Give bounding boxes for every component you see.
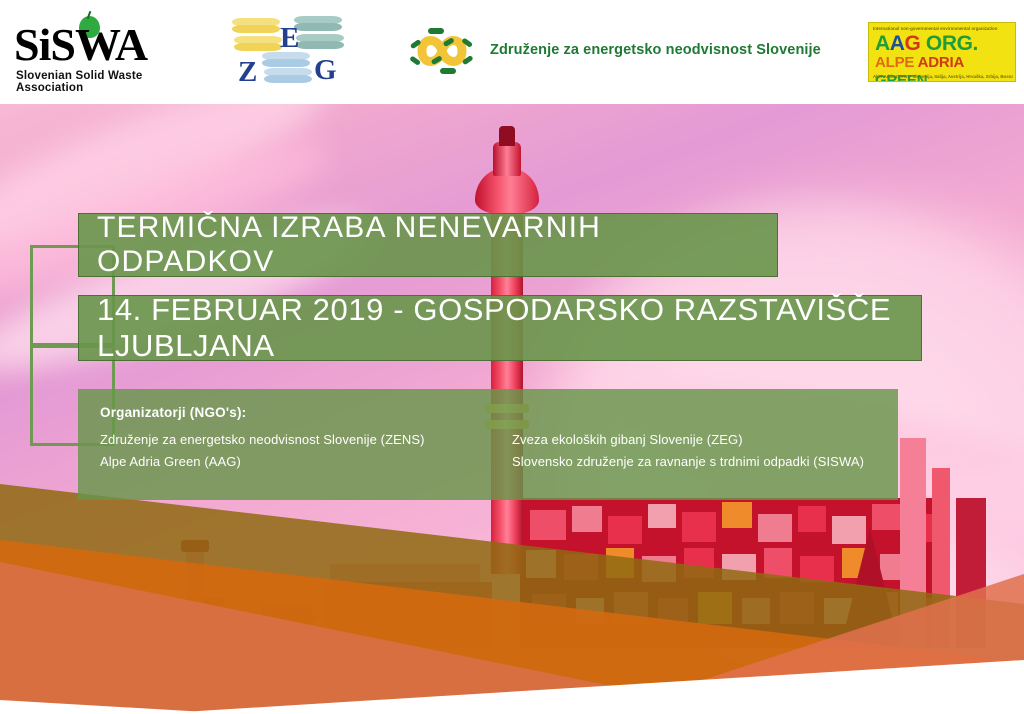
infinity-icon bbox=[398, 22, 486, 80]
logo-zeg: E Z G bbox=[232, 16, 344, 88]
waves-icon bbox=[234, 36, 282, 51]
organizer-item: Slovensko združenje za ravnanje s trdnim… bbox=[512, 451, 864, 473]
organizers-right-column: Zveza ekoloških gibanj Slovenije (ZEG) S… bbox=[512, 429, 864, 473]
aag-alpe: ALPE bbox=[875, 54, 918, 71]
waves-icon bbox=[294, 16, 342, 31]
organizers-box: Organizatorji (NGO's): Združenje za ener… bbox=[78, 389, 898, 500]
aag-g: G bbox=[905, 32, 921, 55]
zens-name: Združenje za energetsko neodvisnost Slov… bbox=[490, 42, 821, 58]
aag-org: ORG. bbox=[920, 32, 978, 55]
organizer-item: Alpe Adria Green (AAG) bbox=[100, 451, 425, 473]
zeg-letter-e: E bbox=[280, 24, 299, 53]
waves-icon bbox=[264, 68, 312, 83]
logo-zens: Združenje za energetsko neodvisnost Slov… bbox=[398, 22, 838, 84]
aag-line-2: ALPE ADRIA GREEN bbox=[875, 54, 1015, 72]
aag-top-microtext: International non-governmental environme… bbox=[873, 25, 1013, 32]
aag-line-1: AAG ORG. bbox=[875, 33, 1015, 55]
date-venue-text: 14. FEBRUAR 2019 - GOSPODARSKO RAZSTAVIŠ… bbox=[97, 292, 921, 364]
zeg-letter-z: Z bbox=[238, 58, 257, 87]
conference-poster: SiSWA Slovenian Solid Waste Association bbox=[0, 0, 1024, 714]
organizer-item: Združenje za energetsko neodvisnost Slov… bbox=[100, 429, 425, 451]
logo-aag: International non-governmental environme… bbox=[868, 22, 1016, 82]
organizers-left-column: Združenje za energetsko neodvisnost Slov… bbox=[100, 429, 425, 473]
title-band: TERMIČNA IZRABA NENEVARNIH ODPADKOV bbox=[78, 213, 778, 277]
logo-siswa: SiSWA Slovenian Solid Waste Association bbox=[14, 16, 186, 88]
aag-a2: A bbox=[890, 32, 905, 55]
page-title: TERMIČNA IZRABA NENEVARNIH ODPADKOV bbox=[97, 211, 777, 279]
siswa-wordmark: SiSWA bbox=[14, 22, 186, 68]
waves-icon bbox=[232, 18, 280, 33]
organizers-heading: Organizatorji (NGO's): bbox=[100, 405, 898, 420]
siswa-subtitle: Slovenian Solid Waste Association bbox=[16, 70, 196, 94]
zeg-letter-g: G bbox=[314, 56, 337, 85]
organizer-item: Zveza ekoloških gibanj Slovenije (ZEG) bbox=[512, 429, 864, 451]
organizers-columns: Združenje za energetsko neodvisnost Slov… bbox=[100, 429, 898, 479]
date-venue-band: 14. FEBRUAR 2019 - GOSPODARSKO RAZSTAVIŠ… bbox=[78, 295, 922, 361]
waves-icon bbox=[296, 34, 344, 49]
waves-icon bbox=[262, 52, 310, 67]
logo-strip: SiSWA Slovenian Solid Waste Association bbox=[0, 0, 1024, 104]
aag-a1: A bbox=[875, 32, 890, 55]
aag-bottom-microtext: Alpe Adria Green - Slovenija, Italija, A… bbox=[873, 73, 1013, 80]
aag-adria: ADRIA bbox=[918, 54, 964, 71]
